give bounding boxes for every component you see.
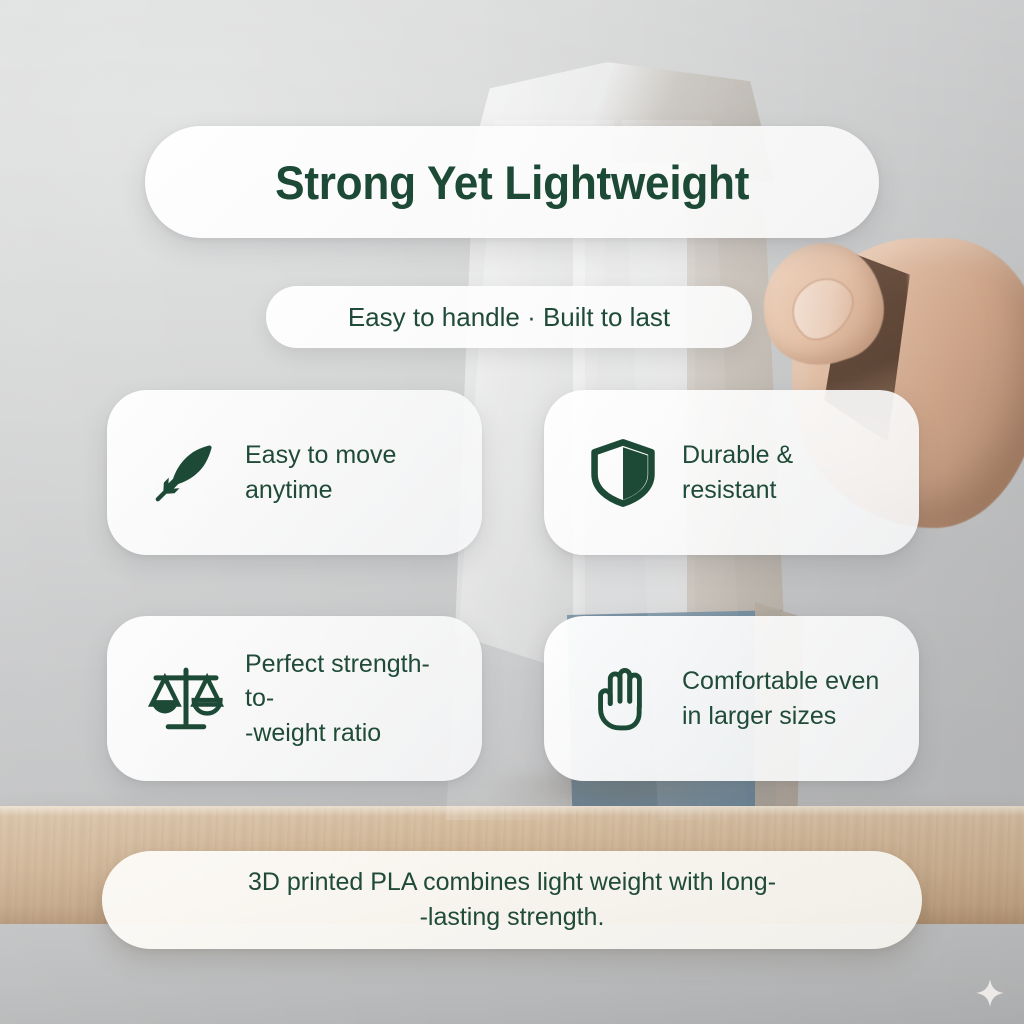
sparkle-icon <box>975 978 1005 1008</box>
page-subtitle: Easy to handle · Built to last <box>348 302 670 333</box>
feature-card-label: Perfect strength-to- -weight ratio <box>245 647 456 751</box>
footer-text: 3D printed PLA combines light weight wit… <box>248 865 776 936</box>
footer-banner: 3D printed PLA combines light weight wit… <box>102 851 922 949</box>
feature-card-strength-to-weight[interactable]: Perfect strength-to- -weight ratio <box>107 616 482 781</box>
feature-card-label: Easy to move anytime <box>245 438 396 507</box>
feature-card-label: Comfortable even in larger sizes <box>682 664 879 733</box>
feature-card-comfortable[interactable]: Comfortable even in larger sizes <box>544 616 919 781</box>
title-banner: Strong Yet Lightweight <box>145 126 879 238</box>
feature-card-durable-resistant[interactable]: Durable & resistant <box>544 390 919 555</box>
feature-card-label: Durable & resistant <box>682 438 793 507</box>
shield-icon <box>580 430 666 516</box>
product-feature-poster: Strong Yet Lightweight Easy to handle · … <box>0 0 1024 1024</box>
balance-scale-icon <box>143 656 229 742</box>
page-title: Strong Yet Lightweight <box>275 155 749 210</box>
feature-card-grid: Easy to move anytime Durable & resistant <box>107 390 919 781</box>
subtitle-banner: Easy to handle · Built to last <box>266 286 752 348</box>
feature-card-easy-to-move[interactable]: Easy to move anytime <box>107 390 482 555</box>
open-hand-icon <box>580 656 666 742</box>
feather-icon <box>143 430 229 516</box>
